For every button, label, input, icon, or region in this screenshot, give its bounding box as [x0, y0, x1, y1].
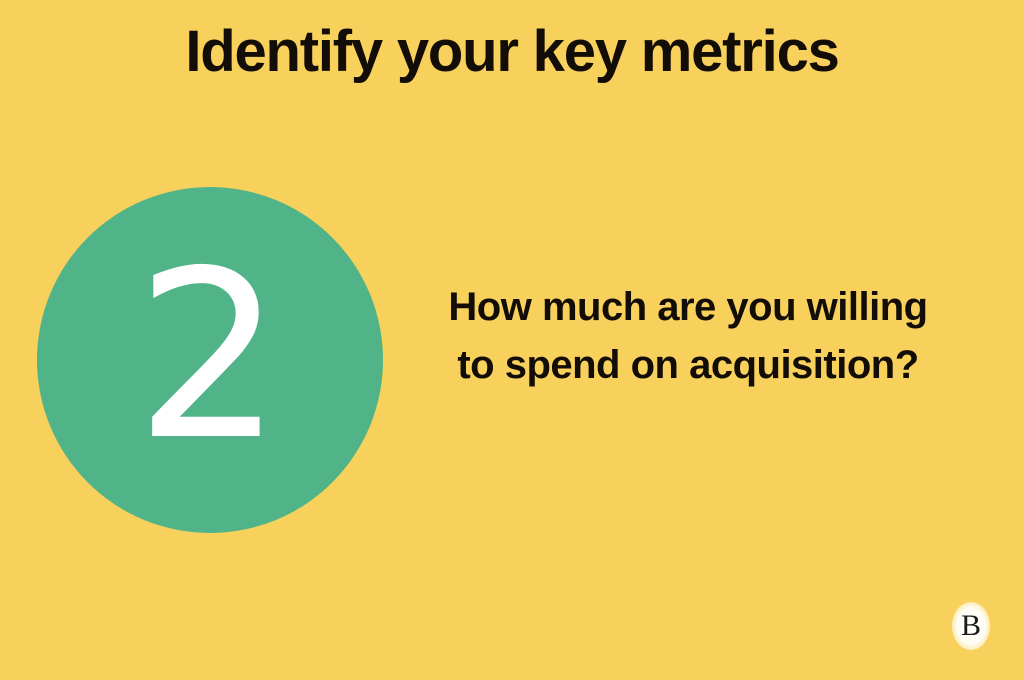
question-text: How much are you willing to spend on acq…: [400, 278, 976, 394]
page-title: Identify your key metrics: [0, 18, 1024, 86]
brand-logo: B: [950, 600, 992, 652]
question-line-1: How much are you willing: [400, 278, 976, 336]
logo-monogram-letter: B: [961, 611, 981, 641]
step-number-label: 2: [135, 240, 283, 472]
step-number-badge: 2: [37, 187, 383, 533]
question-line-2: to spend on acquisition?: [400, 336, 976, 394]
presentation-slide: Identify your key metrics 2 How much are…: [0, 0, 1024, 680]
